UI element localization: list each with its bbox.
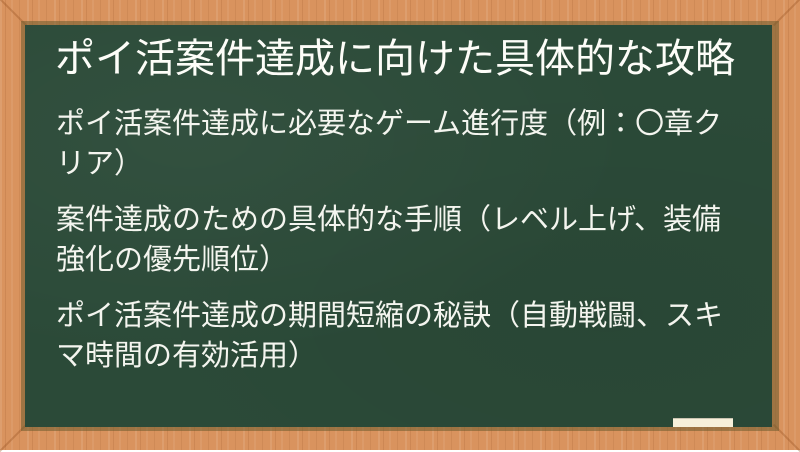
blackboard-frame: ポイ活案件達成に向けた具体的な攻略 ポイ活案件達成に必要なゲーム進行度（例：〇章… — [0, 0, 800, 450]
bullet-item: ポイ活案件達成の期間短縮の秘訣（自動戦闘、スキマ時間の有効活用） — [56, 295, 746, 375]
bullet-list: ポイ活案件達成に必要なゲーム進行度（例：〇章クリア） 案件達成のための具体的な手… — [56, 103, 746, 375]
slide-title: ポイ活案件達成に向けた具体的な攻略 — [55, 31, 755, 87]
chalk-stick-icon — [673, 418, 733, 427]
chalkboard-surface: ポイ活案件達成に向けた具体的な攻略 ポイ活案件達成に必要なゲーム進行度（例：〇章… — [25, 25, 772, 427]
bullet-item: ポイ活案件達成に必要なゲーム進行度（例：〇章クリア） — [56, 103, 746, 183]
bullet-item: 案件達成のための具体的な手順（レベル上げ、装備強化の優先順位） — [56, 199, 746, 279]
